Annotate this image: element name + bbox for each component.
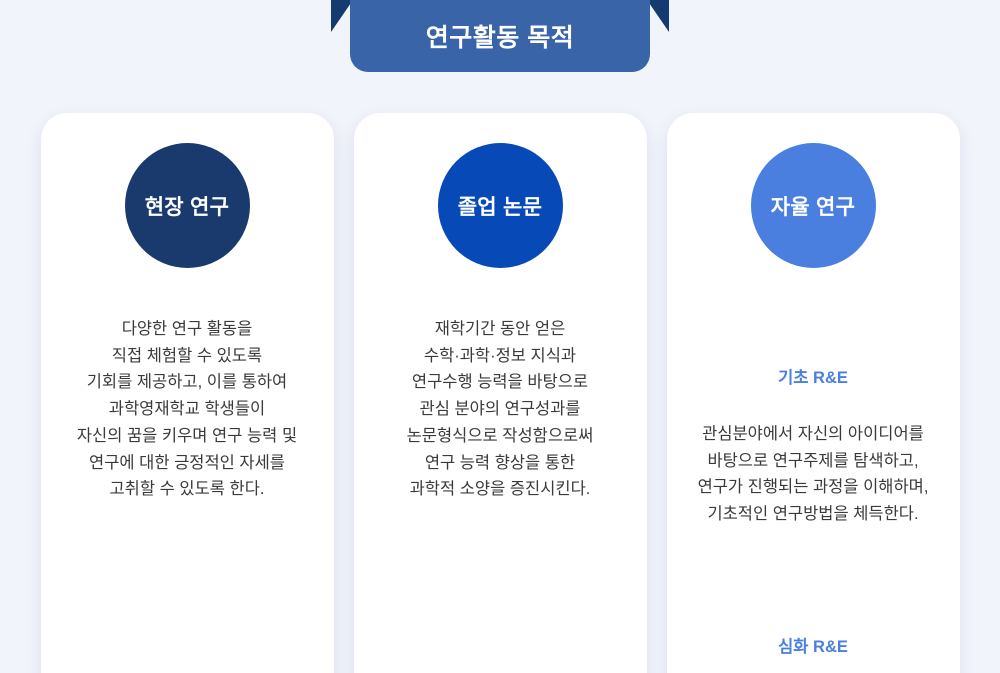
ribbon-banner: 연구활동 목적 bbox=[350, 0, 650, 72]
section-advanced-rne: 심화 R&E 관심분야에 대한 깊이 있는 지식 습득과 연구 환경에 친숙하게… bbox=[690, 607, 936, 673]
card-graduation-thesis: 졸업 논문 재학기간 동안 얻은 수학·과학·정보 지식과 연구수행 능력을 바… bbox=[354, 113, 647, 673]
header-ribbon: 연구활동 목적 bbox=[0, 0, 1000, 75]
section-body-basic-rne: 관심분야에서 자신의 아이디어를 바탕으로 연구주제를 탐색하고, 연구가 진행… bbox=[690, 421, 936, 528]
section-heading-advanced-rne: 심화 R&E bbox=[690, 634, 936, 661]
card-field-research: 현장 연구 다양한 연구 활동을 직접 체험할 수 있도록 기회를 제공하고, … bbox=[41, 113, 334, 673]
card-independent-research: 자율 연구 기초 R&E 관심분야에서 자신의 아이디어를 바탕으로 연구주제를… bbox=[667, 113, 960, 673]
ribbon-tail-right-icon bbox=[647, 0, 669, 32]
badge-label: 졸업 논문 bbox=[458, 191, 543, 221]
card-body-graduation-thesis: 재학기간 동안 얻은 수학·과학·정보 지식과 연구수행 능력을 바탕으로 관심… bbox=[407, 316, 594, 503]
section-heading-basic-rne: 기초 R&E bbox=[690, 365, 936, 392]
card-body-independent-research: 기초 R&E 관심분야에서 자신의 아이디어를 바탕으로 연구주제를 탐색하고,… bbox=[690, 312, 936, 673]
badge-independent-research: 자율 연구 bbox=[751, 143, 876, 268]
page-title: 연구활동 목적 bbox=[426, 22, 574, 51]
section-basic-rne: 기초 R&E 관심분야에서 자신의 아이디어를 바탕으로 연구주제를 탐색하고,… bbox=[690, 339, 936, 555]
card-list: 현장 연구 다양한 연구 활동을 직접 체험할 수 있도록 기회를 제공하고, … bbox=[0, 113, 1000, 673]
badge-label: 자율 연구 bbox=[771, 191, 856, 221]
badge-field-research: 현장 연구 bbox=[125, 143, 250, 268]
card-body-field-research: 다양한 연구 활동을 직접 체험할 수 있도록 기회를 제공하고, 이를 통하여… bbox=[77, 316, 297, 503]
badge-graduation-thesis: 졸업 논문 bbox=[438, 143, 563, 268]
badge-label: 현장 연구 bbox=[145, 191, 230, 221]
